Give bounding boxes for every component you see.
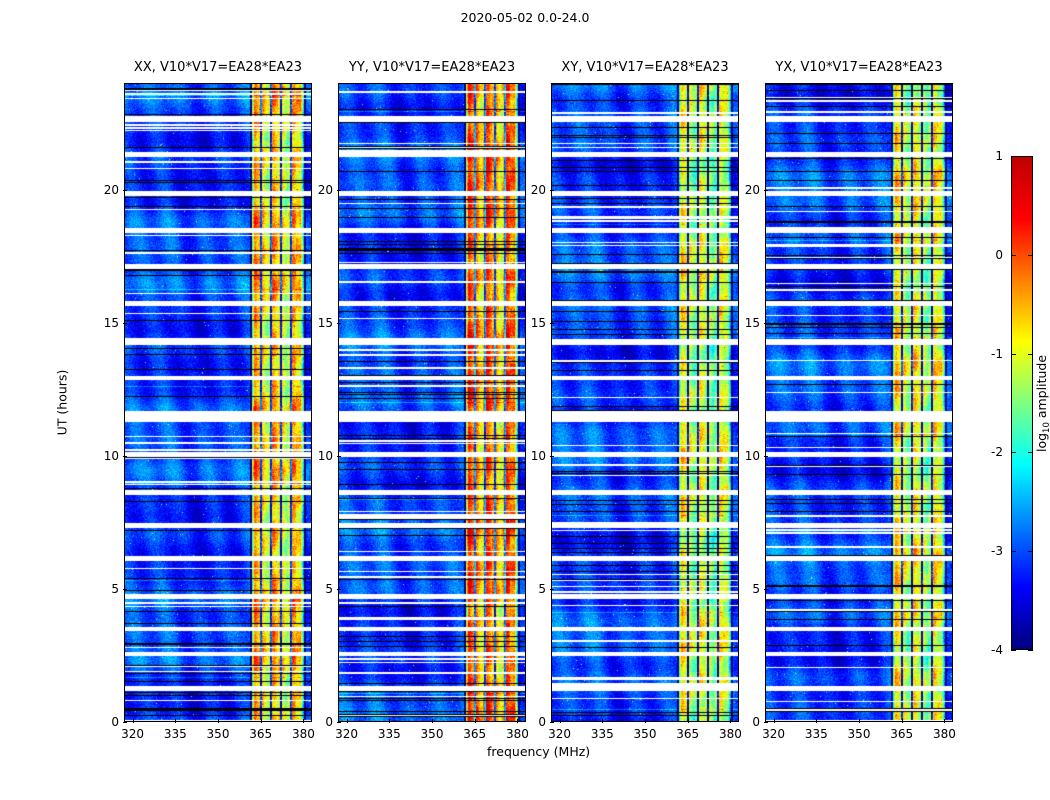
x-tick <box>303 719 304 723</box>
colorbar-label-tail: amplitude <box>1034 354 1049 421</box>
x-tick <box>218 719 219 723</box>
panel-xx: XX, V10*V17=EA28*EA233203353503653800510… <box>124 83 312 722</box>
colorbar-label-main: log <box>1034 432 1049 451</box>
y-tick-label: 15 <box>745 316 760 330</box>
x-tick <box>347 719 348 723</box>
x-tick <box>389 719 390 723</box>
colorbar <box>1011 156 1033 650</box>
x-tick <box>688 719 689 723</box>
y-tick <box>550 190 554 191</box>
y-tick <box>764 323 768 324</box>
x-tick-label: 365 <box>890 727 913 741</box>
dynamic-spectrum-image <box>125 84 311 721</box>
x-tick <box>261 719 262 723</box>
y-tick-label: 0 <box>325 715 333 729</box>
y-tick <box>123 456 127 457</box>
x-tick <box>859 719 860 723</box>
colorbar-label: log10 amplitude <box>1034 354 1049 451</box>
x-tick <box>730 719 731 723</box>
y-tick <box>337 323 341 324</box>
x-tick-label: 335 <box>805 727 828 741</box>
figure-root: 2020-05-02 0.0-24.0 UT (hours) frequency… <box>0 0 1050 800</box>
panel-axes <box>765 83 953 722</box>
x-tick-label: 350 <box>634 727 657 741</box>
colorbar-tick-label: -2 <box>991 445 1003 459</box>
x-tick <box>774 719 775 723</box>
y-tick-label: 10 <box>318 449 333 463</box>
panel-xy: XY, V10*V17=EA28*EA233203353503653800510… <box>551 83 739 722</box>
y-tick-label: 20 <box>745 183 760 197</box>
x-tick-label: 335 <box>164 727 187 741</box>
panel-title: YY, V10*V17=EA28*EA23 <box>349 60 515 75</box>
y-tick-label: 20 <box>531 183 546 197</box>
colorbar-tick <box>1028 354 1033 355</box>
y-tick-label: 10 <box>531 449 546 463</box>
y-tick <box>123 190 127 191</box>
x-tick-label: 380 <box>933 727 956 741</box>
x-tick <box>175 719 176 723</box>
x-tick-label: 380 <box>719 727 742 741</box>
x-tick-label: 320 <box>762 727 785 741</box>
y-tick-label: 5 <box>111 582 119 596</box>
y-tick-label: 5 <box>752 582 760 596</box>
panel-title: XX, V10*V17=EA28*EA23 <box>134 60 302 75</box>
y-tick <box>550 589 554 590</box>
y-tick <box>337 190 341 191</box>
x-tick-label: 335 <box>591 727 614 741</box>
colorbar-label-subscript: 10 <box>1042 422 1050 433</box>
x-tick-label: 350 <box>421 727 444 741</box>
x-tick <box>560 719 561 723</box>
panel-yx: YX, V10*V17=EA28*EA233203353503653800510… <box>765 83 953 722</box>
y-tick-label: 5 <box>538 582 546 596</box>
colorbar-tick <box>1028 650 1033 651</box>
y-tick <box>550 722 554 723</box>
colorbar-tick <box>1011 551 1016 552</box>
x-tick <box>517 719 518 723</box>
x-axis-label: frequency (MHz) <box>487 744 590 759</box>
y-tick-label: 20 <box>104 183 119 197</box>
x-tick-label: 320 <box>335 727 358 741</box>
x-tick <box>133 719 134 723</box>
dynamic-spectrum-image <box>552 84 738 721</box>
panel-title: XY, V10*V17=EA28*EA23 <box>561 60 728 75</box>
y-axis-label: UT (hours) <box>54 370 69 436</box>
colorbar-tick-label: -4 <box>991 643 1003 657</box>
y-tick <box>337 456 341 457</box>
y-tick <box>764 589 768 590</box>
x-tick <box>475 719 476 723</box>
y-tick-label: 5 <box>325 582 333 596</box>
colorbar-tick <box>1011 156 1016 157</box>
colorbar-gradient <box>1012 157 1032 649</box>
x-tick <box>432 719 433 723</box>
x-tick-label: 350 <box>848 727 871 741</box>
dynamic-spectrum-image <box>339 84 525 721</box>
y-tick-label: 0 <box>752 715 760 729</box>
panel-axes <box>124 83 312 722</box>
y-tick <box>764 190 768 191</box>
panel-axes <box>338 83 526 722</box>
x-tick-label: 380 <box>506 727 529 741</box>
y-tick-label: 20 <box>318 183 333 197</box>
x-tick-label: 365 <box>249 727 272 741</box>
colorbar-tick <box>1011 452 1016 453</box>
colorbar-tick <box>1011 354 1016 355</box>
y-tick <box>337 722 341 723</box>
colorbar-tick <box>1028 255 1033 256</box>
x-tick-label: 320 <box>548 727 571 741</box>
y-tick <box>123 323 127 324</box>
colorbar-tick-label: 0 <box>995 248 1003 262</box>
panel-axes <box>551 83 739 722</box>
x-tick-label: 335 <box>378 727 401 741</box>
y-tick-label: 0 <box>538 715 546 729</box>
x-tick-label: 320 <box>121 727 144 741</box>
y-tick <box>123 589 127 590</box>
x-tick-label: 365 <box>676 727 699 741</box>
colorbar-tick <box>1028 551 1033 552</box>
colorbar-tick-label: -1 <box>991 347 1003 361</box>
x-tick <box>602 719 603 723</box>
y-tick-label: 15 <box>104 316 119 330</box>
x-tick-label: 350 <box>207 727 230 741</box>
y-tick <box>550 456 554 457</box>
y-tick-label: 15 <box>531 316 546 330</box>
figure-suptitle: 2020-05-02 0.0-24.0 <box>0 10 1050 25</box>
colorbar-tick <box>1011 255 1016 256</box>
x-tick <box>645 719 646 723</box>
colorbar-tick <box>1011 650 1016 651</box>
y-tick <box>764 722 768 723</box>
x-tick-label: 365 <box>463 727 486 741</box>
y-tick-label: 15 <box>318 316 333 330</box>
panel-title: YX, V10*V17=EA28*EA23 <box>775 60 942 75</box>
colorbar-tick-label: 1 <box>995 149 1003 163</box>
x-tick <box>944 719 945 723</box>
x-tick-label: 380 <box>292 727 315 741</box>
y-tick-label: 0 <box>111 715 119 729</box>
y-tick <box>123 722 127 723</box>
y-tick-label: 10 <box>745 449 760 463</box>
dynamic-spectrum-image <box>766 84 952 721</box>
y-tick <box>764 456 768 457</box>
panel-yy: YY, V10*V17=EA28*EA233203353503653800510… <box>338 83 526 722</box>
colorbar-tick <box>1028 156 1033 157</box>
colorbar-tick-label: -3 <box>991 544 1003 558</box>
y-tick <box>337 589 341 590</box>
x-tick <box>816 719 817 723</box>
y-tick <box>550 323 554 324</box>
y-tick-label: 10 <box>104 449 119 463</box>
colorbar-tick <box>1028 452 1033 453</box>
x-tick <box>902 719 903 723</box>
